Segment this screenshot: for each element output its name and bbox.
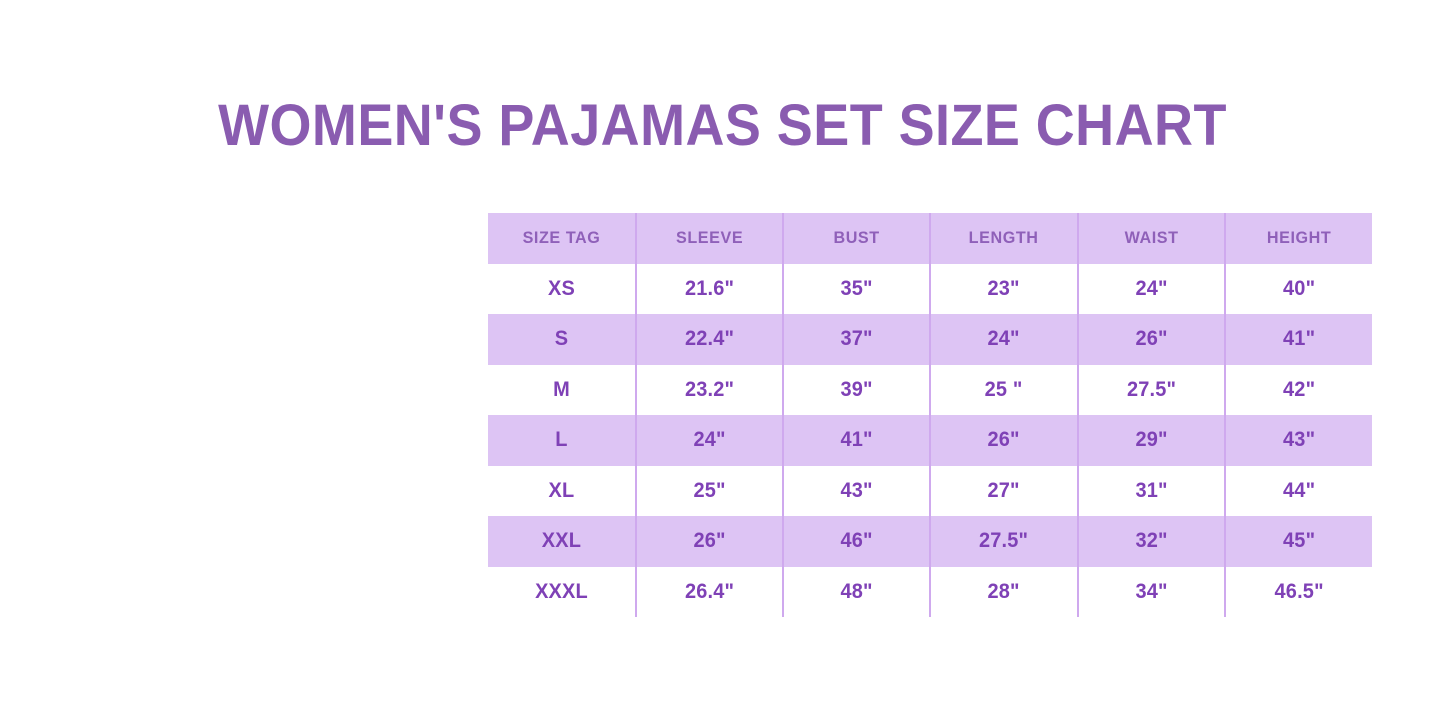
- cell-waist-value: 34": [1082, 580, 1220, 604]
- table-body: XS 21.6" 35" 23" 24" 40" S 22.4" 37" 24"…: [488, 264, 1372, 618]
- cell-bust-value: 43": [788, 479, 926, 503]
- column-header-length-label: LENGTH: [935, 228, 1073, 248]
- cell-size-tag: S: [488, 314, 636, 365]
- cell-length: 24": [930, 314, 1077, 365]
- cell-sleeve: 23.2": [636, 365, 783, 416]
- column-header-height: HEIGHT: [1225, 213, 1372, 264]
- cell-bust: 37": [783, 314, 930, 365]
- cell-height-value: 46.5": [1229, 580, 1368, 604]
- cell-waist-value: 29": [1082, 428, 1220, 452]
- cell-size-tag-value: S: [492, 327, 632, 351]
- cell-bust: 35": [783, 264, 930, 315]
- cell-size-tag: XS: [488, 264, 636, 315]
- column-header-sleeve-label: SLEEVE: [641, 228, 779, 248]
- cell-sleeve-value: 21.6": [641, 277, 779, 301]
- column-header-height-label: HEIGHT: [1229, 228, 1368, 248]
- column-header-waist-label: WAIST: [1082, 228, 1220, 248]
- cell-sleeve-value: 25": [641, 479, 779, 503]
- cell-bust-value: 48": [788, 580, 926, 604]
- table-row: XS 21.6" 35" 23" 24" 40": [488, 264, 1372, 315]
- cell-height-value: 45": [1229, 529, 1368, 553]
- cell-length-value: 23": [935, 277, 1073, 301]
- cell-waist-value: 31": [1082, 479, 1220, 503]
- column-header-bust-label: BUST: [788, 228, 926, 248]
- size-chart-table-container: SIZE TAG SLEEVE BUST LENGTH WAIST HEIGHT…: [488, 213, 1372, 617]
- cell-sleeve-value: 22.4": [641, 327, 779, 351]
- cell-waist: 27.5": [1078, 365, 1225, 416]
- cell-size-tag-value: XS: [492, 277, 632, 301]
- cell-waist: 34": [1078, 567, 1225, 618]
- cell-waist: 24": [1078, 264, 1225, 315]
- cell-size-tag-value: XXXL: [492, 580, 632, 604]
- cell-height: 41": [1225, 314, 1372, 365]
- table-header-row: SIZE TAG SLEEVE BUST LENGTH WAIST HEIGHT: [488, 213, 1372, 264]
- cell-length: 23": [930, 264, 1077, 315]
- cell-height: 42": [1225, 365, 1372, 416]
- table-row: M 23.2" 39" 25 " 27.5" 42": [488, 365, 1372, 416]
- cell-sleeve: 26.4": [636, 567, 783, 618]
- cell-size-tag: XXL: [488, 516, 636, 567]
- column-header-sleeve: SLEEVE: [636, 213, 783, 264]
- cell-waist: 32": [1078, 516, 1225, 567]
- cell-waist-value: 24": [1082, 277, 1220, 301]
- cell-waist-value: 26": [1082, 327, 1220, 351]
- cell-waist: 31": [1078, 466, 1225, 517]
- table-row: L 24" 41" 26" 29" 43": [488, 415, 1372, 466]
- column-header-waist: WAIST: [1078, 213, 1225, 264]
- column-header-size-tag: SIZE TAG: [488, 213, 636, 264]
- cell-sleeve-value: 26": [641, 529, 779, 553]
- column-header-length: LENGTH: [930, 213, 1077, 264]
- cell-height-value: 41": [1229, 327, 1368, 351]
- cell-bust-value: 46": [788, 529, 926, 553]
- cell-size-tag: XXXL: [488, 567, 636, 618]
- cell-length-value: 26": [935, 428, 1073, 452]
- size-chart-table: SIZE TAG SLEEVE BUST LENGTH WAIST HEIGHT…: [488, 213, 1372, 617]
- cell-height: 46.5": [1225, 567, 1372, 618]
- cell-waist: 26": [1078, 314, 1225, 365]
- column-header-size-tag-label: SIZE TAG: [492, 228, 632, 248]
- table-row: XL 25" 43" 27" 31" 44": [488, 466, 1372, 517]
- cell-length-value: 24": [935, 327, 1073, 351]
- cell-bust-value: 35": [788, 277, 926, 301]
- table-header: SIZE TAG SLEEVE BUST LENGTH WAIST HEIGHT: [488, 213, 1372, 264]
- cell-bust: 39": [783, 365, 930, 416]
- cell-height-value: 42": [1229, 378, 1368, 402]
- cell-height-value: 44": [1229, 479, 1368, 503]
- cell-waist: 29": [1078, 415, 1225, 466]
- cell-sleeve: 24": [636, 415, 783, 466]
- cell-sleeve-value: 24": [641, 428, 779, 452]
- cell-sleeve: 25": [636, 466, 783, 517]
- cell-height-value: 43": [1229, 428, 1368, 452]
- cell-length: 26": [930, 415, 1077, 466]
- cell-length-value: 25 ": [935, 378, 1073, 402]
- cell-length-value: 27": [935, 479, 1073, 503]
- cell-sleeve-value: 23.2": [641, 378, 779, 402]
- table-row: XXXL 26.4" 48" 28" 34" 46.5": [488, 567, 1372, 618]
- table-row: XXL 26" 46" 27.5" 32" 45": [488, 516, 1372, 567]
- cell-height-value: 40": [1229, 277, 1368, 301]
- cell-waist-value: 27.5": [1082, 378, 1220, 402]
- cell-waist-value: 32": [1082, 529, 1220, 553]
- cell-bust: 41": [783, 415, 930, 466]
- page-title: WOMEN'S PAJAMAS SET SIZE CHART: [51, 95, 1395, 157]
- cell-sleeve: 26": [636, 516, 783, 567]
- cell-height: 45": [1225, 516, 1372, 567]
- cell-bust-value: 41": [788, 428, 926, 452]
- cell-size-tag-value: L: [492, 428, 632, 452]
- cell-length: 27.5": [930, 516, 1077, 567]
- cell-size-tag-value: M: [492, 378, 632, 402]
- cell-height: 40": [1225, 264, 1372, 315]
- cell-bust: 46": [783, 516, 930, 567]
- cell-height: 43": [1225, 415, 1372, 466]
- cell-size-tag: L: [488, 415, 636, 466]
- cell-size-tag-value: XXL: [492, 529, 632, 553]
- cell-length-value: 28": [935, 580, 1073, 604]
- cell-bust: 48": [783, 567, 930, 618]
- cell-sleeve: 21.6": [636, 264, 783, 315]
- size-chart-page: WOMEN'S PAJAMAS SET SIZE CHART SIZE TAG …: [0, 0, 1445, 723]
- table-row: S 22.4" 37" 24" 26" 41": [488, 314, 1372, 365]
- cell-bust-value: 39": [788, 378, 926, 402]
- column-header-bust: BUST: [783, 213, 930, 264]
- cell-bust: 43": [783, 466, 930, 517]
- cell-size-tag-value: XL: [492, 479, 632, 503]
- cell-sleeve-value: 26.4": [641, 580, 779, 604]
- cell-length-value: 27.5": [935, 529, 1073, 553]
- cell-sleeve: 22.4": [636, 314, 783, 365]
- cell-length: 25 ": [930, 365, 1077, 416]
- cell-height: 44": [1225, 466, 1372, 517]
- cell-size-tag: XL: [488, 466, 636, 517]
- cell-length: 27": [930, 466, 1077, 517]
- cell-size-tag: M: [488, 365, 636, 416]
- cell-bust-value: 37": [788, 327, 926, 351]
- cell-length: 28": [930, 567, 1077, 618]
